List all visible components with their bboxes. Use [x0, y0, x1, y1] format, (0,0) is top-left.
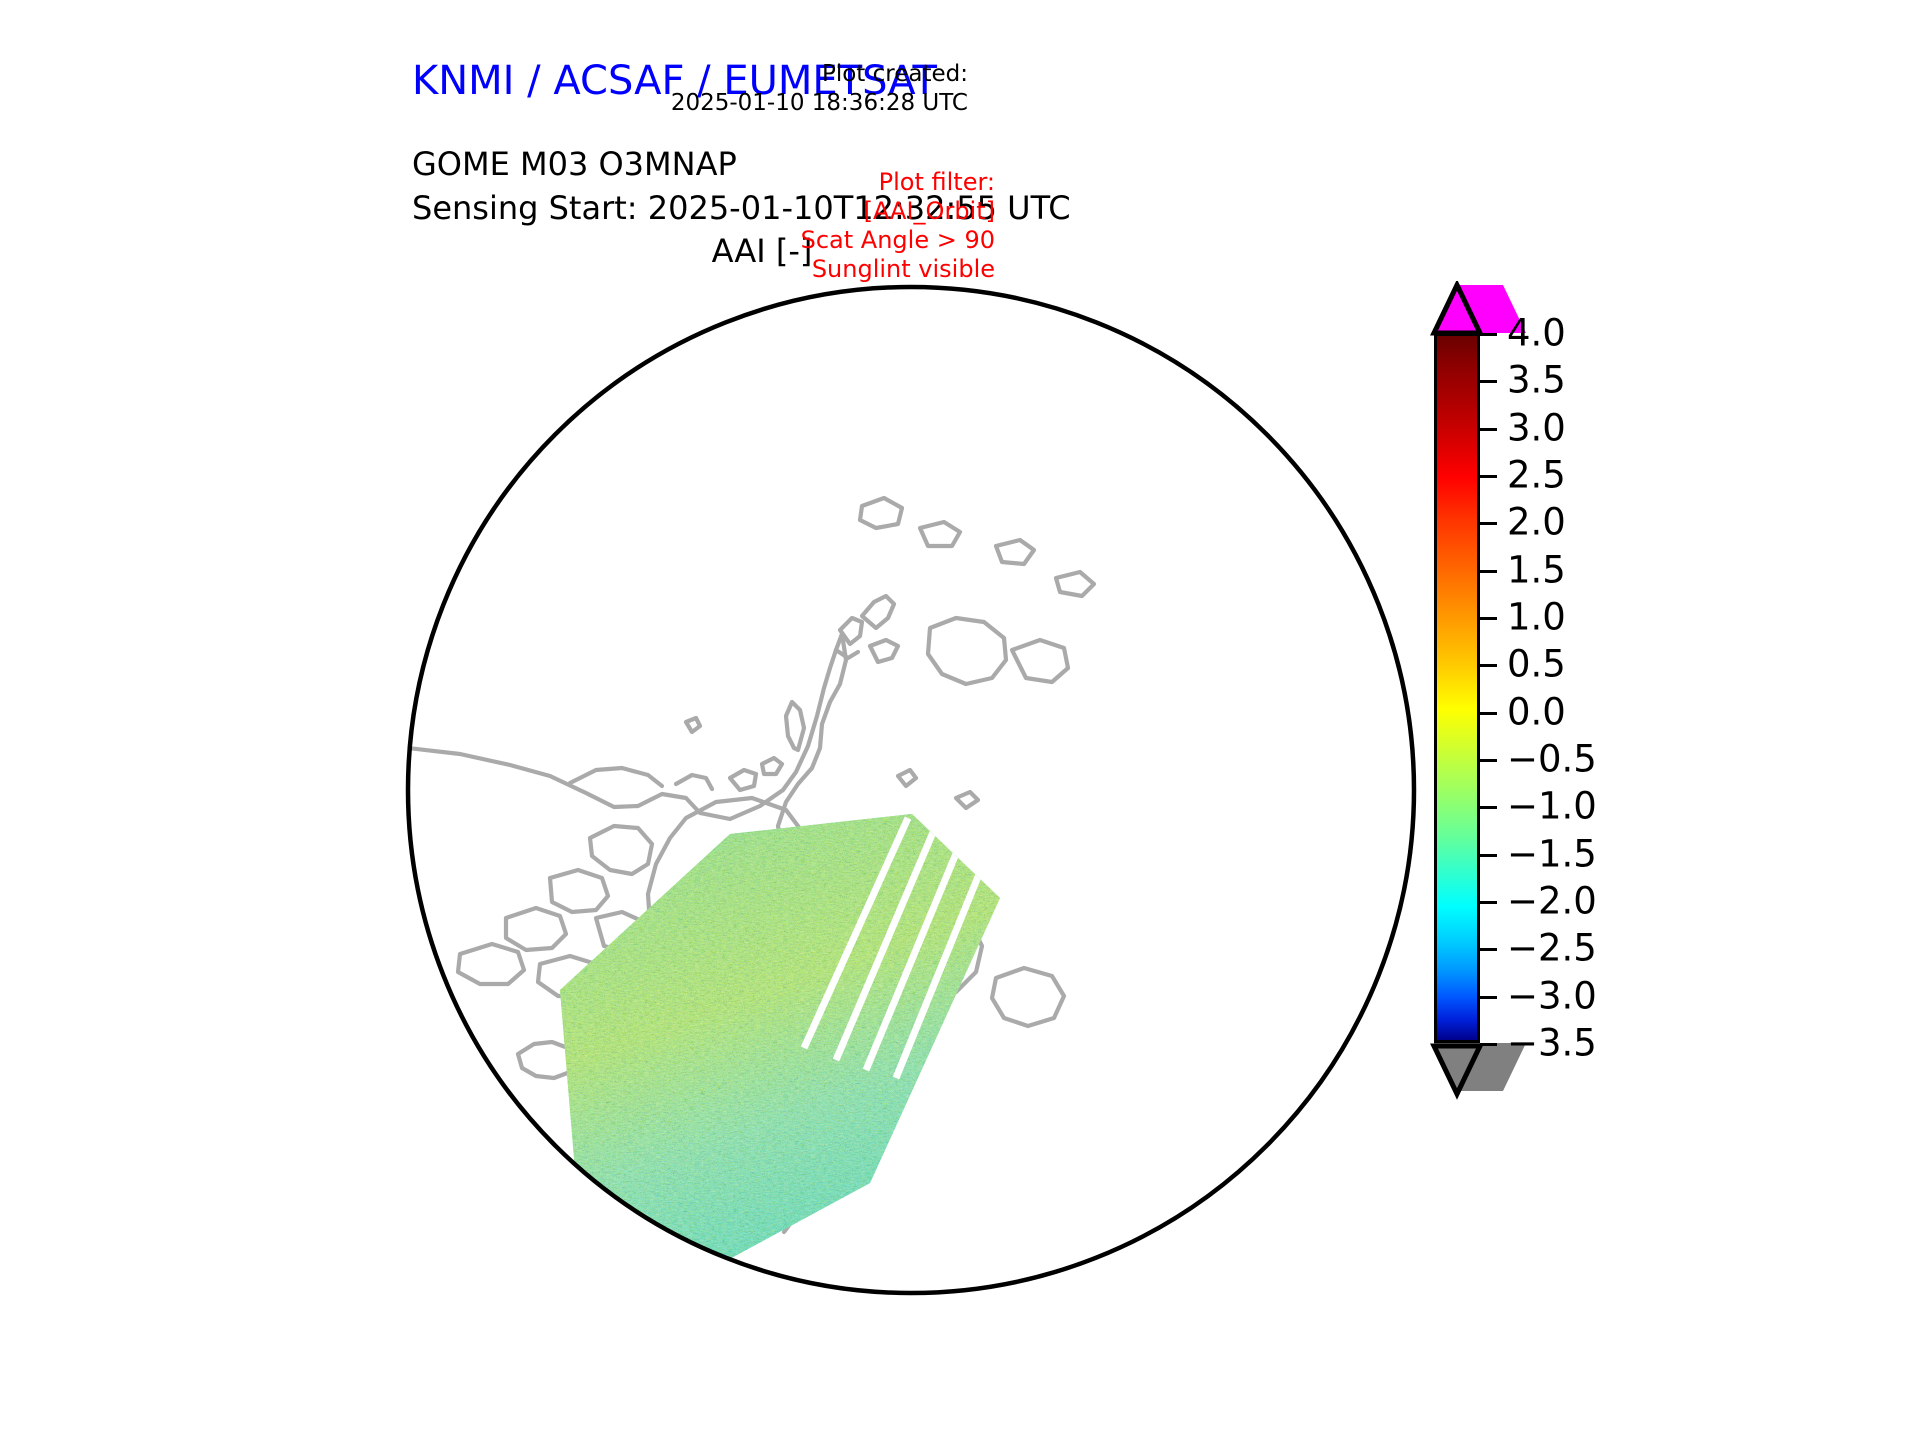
colorbar-tick-label: −3.0	[1507, 977, 1597, 1014]
colorbar-tick	[1480, 617, 1497, 620]
colorbar-tick-label: 0.5	[1507, 646, 1566, 683]
plot-filter-title: Plot filter:	[635, 168, 995, 197]
colorbar-tick	[1480, 428, 1497, 431]
colorbar-tick-label: 4.0	[1507, 315, 1566, 352]
colorbar-gradient	[1434, 333, 1480, 1043]
colorbar-tick-label: 1.5	[1507, 551, 1566, 588]
colorbar-tick-label: 1.0	[1507, 599, 1566, 636]
globe-disc	[408, 287, 1414, 1293]
colorbar-tick-label: −1.0	[1507, 788, 1597, 825]
colorbar: 4.03.53.02.52.01.51.00.50.0−0.5−1.0−1.5−…	[1425, 278, 1845, 1318]
colorbar-tick-label: −0.5	[1507, 741, 1597, 778]
plot-filter-line-2: Scat Angle > 90	[635, 226, 995, 255]
colorbar-tick	[1480, 664, 1497, 667]
colorbar-tick	[1480, 522, 1497, 525]
colorbar-tick	[1480, 475, 1497, 478]
colorbar-tick-label: −3.5	[1507, 1025, 1597, 1062]
colorbar-tick-label: −2.5	[1507, 930, 1597, 967]
colorbar-tick-label: 3.5	[1507, 362, 1566, 399]
colorbar-tick	[1480, 806, 1497, 809]
colorbar-tick	[1480, 996, 1497, 999]
colorbar-tick-label: −1.5	[1507, 835, 1597, 872]
colorbar-tick	[1480, 1043, 1497, 1046]
colorbar-tick	[1480, 570, 1497, 573]
colorbar-tick	[1480, 759, 1497, 762]
colorbar-tick-label: −2.0	[1507, 883, 1597, 920]
colorbar-tick-label: 3.0	[1507, 409, 1566, 446]
colorbar-tick	[1480, 380, 1497, 383]
colorbar-tick-label: 0.0	[1507, 693, 1566, 730]
plot-created-timestamp: 2025-01-10 18:36:28 UTC	[598, 89, 968, 118]
colorbar-tick	[1480, 712, 1497, 715]
map-canvas	[400, 278, 1430, 1308]
colorbar-under-arrow-outline	[1428, 1040, 1488, 1102]
colorbar-tick	[1480, 854, 1497, 857]
colorbar-tick	[1480, 948, 1497, 951]
colorbar-tick	[1480, 333, 1497, 336]
colorbar-tick	[1480, 901, 1497, 904]
plot-created-label: Plot created:	[598, 60, 968, 89]
colorbar-tick-label: 2.0	[1507, 504, 1566, 541]
plot-filter-line-1: [AAI_Orbit]	[635, 197, 995, 226]
plot-filter-block: Plot filter: [AAI_Orbit] Scat Angle > 90…	[635, 168, 995, 284]
plot-created-block: Plot created: 2025-01-10 18:36:28 UTC	[598, 60, 968, 118]
colorbar-tick-label: 2.5	[1507, 457, 1566, 494]
polar-map	[400, 278, 1430, 1308]
